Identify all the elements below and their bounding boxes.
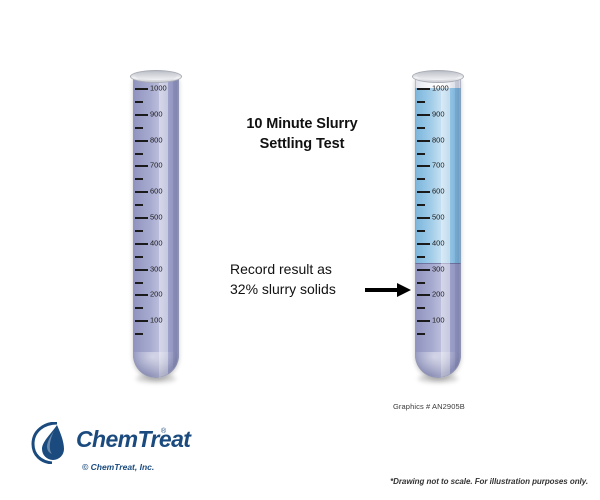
tick-major-900 <box>417 114 430 116</box>
tick-minor-50 <box>135 333 143 335</box>
tick-major-1000 <box>135 88 148 90</box>
tick-minor-350 <box>417 256 425 258</box>
tick-label-700: 700 <box>150 162 163 170</box>
arrow-shaft <box>365 288 399 292</box>
graduation-scale-left: 1000900800700600500400300200100 <box>133 76 179 378</box>
tick-major-1000 <box>417 88 430 90</box>
tick-minor-650 <box>417 178 425 180</box>
disclaimer-text: *Drawing not to scale. For illustration … <box>390 477 588 486</box>
annotation-arrow <box>365 283 413 297</box>
tick-minor-150 <box>135 307 143 309</box>
tick-major-100 <box>417 320 430 322</box>
tick-label-900: 900 <box>432 110 445 118</box>
tick-major-100 <box>135 320 148 322</box>
tick-label-500: 500 <box>432 213 445 221</box>
logo-copyright: © ChemTreat, Inc. <box>82 462 154 472</box>
tick-label-100: 100 <box>432 316 445 324</box>
tick-label-200: 200 <box>432 291 445 299</box>
tick-minor-950 <box>417 101 425 103</box>
tick-major-600 <box>417 191 430 193</box>
tick-label-400: 400 <box>432 239 445 247</box>
tick-label-500: 500 <box>150 213 163 221</box>
page-title: 10 Minute Slurry Settling Test <box>216 114 388 154</box>
tick-label-1000: 1000 <box>150 84 167 92</box>
tick-minor-750 <box>135 153 143 155</box>
tick-label-300: 300 <box>150 265 163 273</box>
graphics-number: Graphics # AN2905B <box>393 402 465 411</box>
tick-minor-450 <box>135 230 143 232</box>
tick-minor-450 <box>417 230 425 232</box>
tick-label-1000: 1000 <box>432 84 449 92</box>
tick-major-700 <box>417 165 430 167</box>
tick-minor-850 <box>135 127 143 129</box>
tick-major-300 <box>417 269 430 271</box>
title-line-2: Settling Test <box>216 134 388 154</box>
annotation-line-1: Record result as <box>230 260 365 280</box>
annotation-line-2: 32% slurry solids <box>230 280 365 300</box>
tick-major-500 <box>417 217 430 219</box>
tick-label-800: 800 <box>150 136 163 144</box>
logo-trademark: ® <box>161 428 166 435</box>
tick-label-600: 600 <box>150 187 163 195</box>
tick-minor-550 <box>135 204 143 206</box>
result-annotation: Record result as 32% slurry solids <box>230 260 365 300</box>
tick-major-900 <box>135 114 148 116</box>
initial-slurry-cylinder: 1000900800700600500400300200100 <box>133 68 179 378</box>
tick-minor-850 <box>417 127 425 129</box>
tick-minor-50 <box>417 333 425 335</box>
settled-slurry-cylinder: 1000900800700600500400300200100 <box>415 68 461 378</box>
tick-major-700 <box>135 165 148 167</box>
tick-label-700: 700 <box>432 162 445 170</box>
tick-label-100: 100 <box>150 316 163 324</box>
arrow-head-icon <box>397 283 411 297</box>
tick-major-800 <box>135 140 148 142</box>
tick-minor-350 <box>135 256 143 258</box>
tick-minor-750 <box>417 153 425 155</box>
tick-major-400 <box>135 243 148 245</box>
tick-minor-250 <box>135 282 143 284</box>
tick-label-900: 900 <box>150 110 163 118</box>
tick-label-800: 800 <box>432 136 445 144</box>
logo-brand-text: ChemTreat <box>76 426 190 453</box>
tick-label-400: 400 <box>150 239 163 247</box>
title-line-1: 10 Minute Slurry <box>216 114 388 134</box>
chemtreat-logo: ChemTreat ® © ChemTreat, Inc. <box>30 424 180 480</box>
tick-major-200 <box>417 294 430 296</box>
tick-label-300: 300 <box>432 265 445 273</box>
tick-minor-150 <box>417 307 425 309</box>
tick-major-200 <box>135 294 148 296</box>
tick-major-400 <box>417 243 430 245</box>
tick-label-600: 600 <box>432 187 445 195</box>
tick-minor-550 <box>417 204 425 206</box>
tick-minor-250 <box>417 282 425 284</box>
tick-minor-650 <box>135 178 143 180</box>
tick-major-300 <box>135 269 148 271</box>
tick-minor-950 <box>135 101 143 103</box>
tick-major-600 <box>135 191 148 193</box>
tick-major-500 <box>135 217 148 219</box>
water-droplet-icon <box>30 422 80 464</box>
graduation-scale-right: 1000900800700600500400300200100 <box>415 76 461 378</box>
tick-label-200: 200 <box>150 291 163 299</box>
tick-major-800 <box>417 140 430 142</box>
